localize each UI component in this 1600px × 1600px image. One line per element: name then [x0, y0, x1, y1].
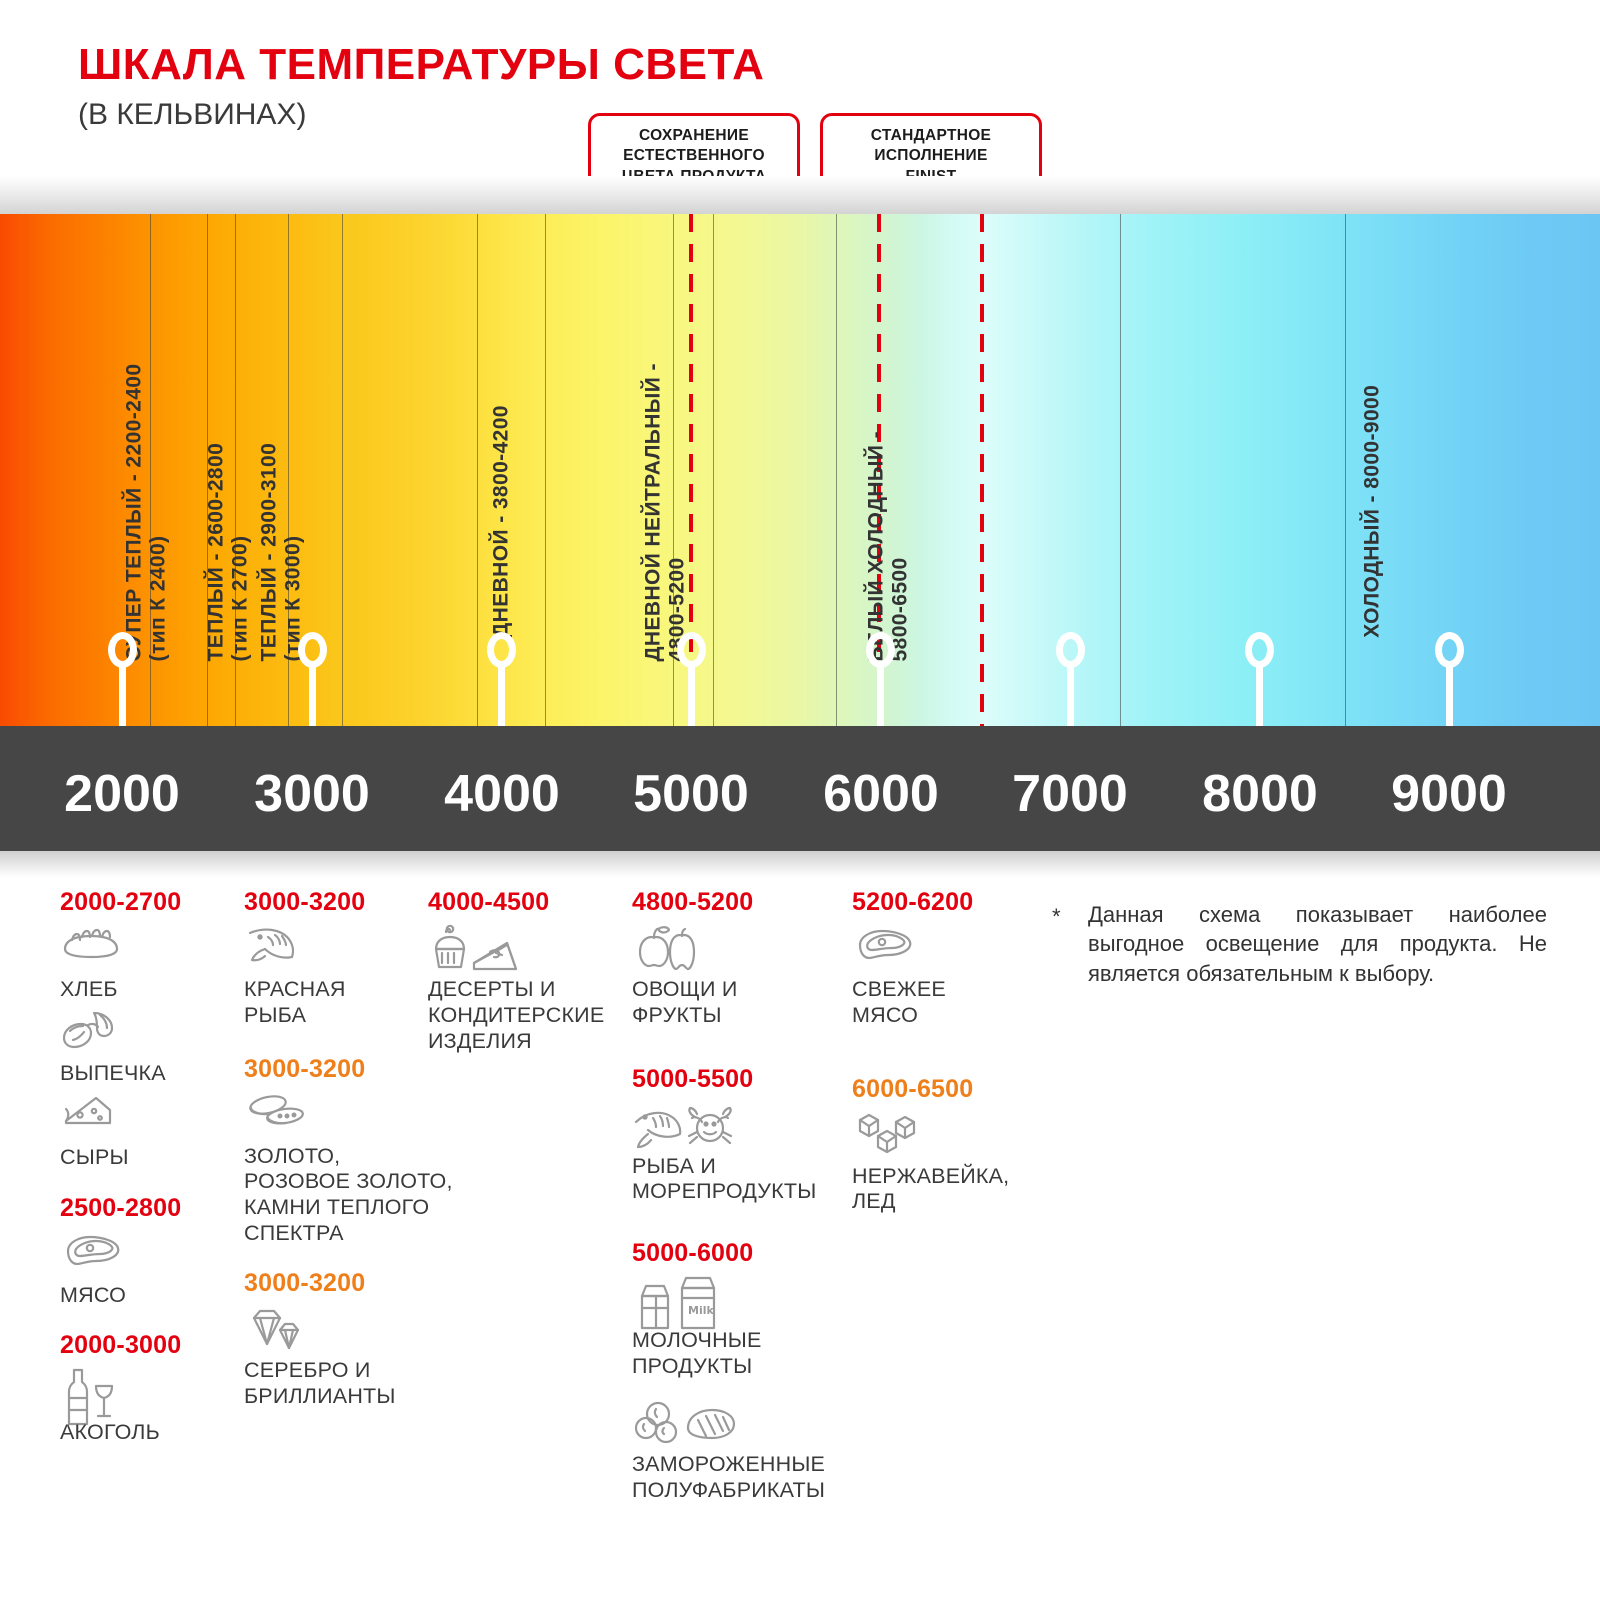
legend-item: НЕРЖАВЕЙКА,ЛЕД [852, 1110, 1042, 1216]
bread-icon [60, 923, 230, 975]
scale-tick-8000: 8000 [1170, 764, 1350, 824]
band-label-line2: 5800-6500 [888, 431, 912, 661]
legend-item-caption: ЗАМОРОЖЕННЫЕПОЛУФАБРИКАТЫ [632, 1452, 862, 1504]
band-divider [477, 214, 478, 726]
callout-line-1: СОХРАНЕНИЕ [639, 127, 749, 144]
scale-tick-3000: 3000 [222, 764, 402, 824]
legend-item-caption: ОВОЩИ ИФРУКТЫ [632, 977, 862, 1029]
callout-line-2: ЕСТЕСТВЕННОГО [623, 147, 765, 164]
legend-group: 6000-6500НЕРЖАВЕЙКА,ЛЕД [852, 1075, 1042, 1216]
legend-item: СВЕЖЕЕМЯСО [852, 923, 1042, 1029]
scale-tick-7000: 7000 [980, 764, 1160, 824]
scale-tick-9000: 9000 [1359, 764, 1539, 824]
band-label-white-cold: БЕЛЫЙ ХОЛОДНЫЙ - 5800-6500 [865, 431, 912, 661]
band-label-daylight-neutral: ДНЕВНОЙ НЕЙТРАЛЬНЫЙ - 4800-5200 [642, 363, 689, 661]
legend-group: 4000-4500ДЕСЕРТЫ ИКОНДИТЕРСКИЕИЗДЕЛИЯ [428, 888, 618, 1054]
legend-item-caption: ДЕСЕРТЫ ИКОНДИТЕРСКИЕИЗДЕЛИЯ [428, 977, 618, 1054]
diamond-icon [244, 1304, 494, 1356]
band-label-line2: (тип К 2700) [228, 443, 252, 662]
band-label-line1: ТЕПЛЫЙ - 2900-3100 [258, 443, 281, 662]
band-divider [1345, 214, 1346, 726]
legend-range-label: 5000-5500 [632, 1065, 862, 1094]
legend-item: ХЛЕБ [60, 923, 230, 1003]
legend-range-label: 4800-5200 [632, 888, 862, 917]
footnote: * Данная схема показывает наиболее выгод… [1052, 900, 1547, 988]
milk-carton-icon: Milk [632, 1274, 862, 1326]
band-label-warm-2700: ТЕПЛЫЙ - 2600-2800 (тип К 2700) [205, 443, 252, 662]
legend-item-caption: ЗОЛОТО,РОЗОВОЕ ЗОЛОТО,КАМНИ ТЕПЛОГОСПЕКТ… [244, 1144, 494, 1247]
rings-icon [244, 1090, 494, 1142]
legend-group: 2500-2800МЯСО [60, 1194, 230, 1309]
frozen-food-icon [632, 1398, 862, 1450]
footnote-star: * [1052, 902, 1061, 931]
callout-line-2: ИСПОЛНЕНИЕ [874, 147, 987, 164]
legend-group: 2000-3000АКОГОЛЬ [60, 1331, 230, 1446]
legend-range-label: 4000-4500 [428, 888, 618, 917]
legend-group: 4800-5200ОВОЩИ ИФРУКТЫ [632, 888, 862, 1029]
legend-item-caption: АКОГОЛЬ [60, 1420, 230, 1446]
footnote-text: Данная схема показывает наиболее выгодно… [1088, 900, 1547, 988]
band-label-line2: 4800-5200 [665, 363, 689, 661]
fresh-meat-icon [852, 923, 1042, 975]
svg-text:Milk: Milk [688, 1304, 714, 1317]
band-label-daylight: ДНЕВНОЙ - 3800-4200 [489, 405, 513, 638]
legend-range-label: 5000-6000 [632, 1239, 862, 1268]
top-fade-strip [0, 176, 1600, 214]
band-label-line1: ДНЕВНОЙ - 3800-4200 [489, 405, 512, 638]
legend-item: ОВОЩИ ИФРУКТЫ [632, 923, 862, 1029]
legend-range-label: 2500-2800 [60, 1194, 230, 1223]
band-label-line1: СУПЕР ТЕПЛЫЙ - 2200-2400 [123, 364, 146, 662]
legend-item: MilkМОЛОЧНЫЕ ПРОДУКТЫ [632, 1274, 862, 1380]
legend-item-caption: СЫРЫ [60, 1145, 230, 1171]
legend-item-caption: РЫБА ИМОРЕПРОДУКТЫ [632, 1154, 862, 1206]
legend-item-caption: МЯСО [60, 1283, 230, 1309]
ice-cubes-icon [852, 1110, 1042, 1162]
legend-item-caption: СВЕЖЕЕМЯСО [852, 977, 1042, 1029]
legend-item-caption: МОЛОЧНЫЕ ПРОДУКТЫ [632, 1328, 862, 1380]
scale-tick-5000: 5000 [601, 764, 781, 824]
band-label-line1: ТЕПЛЫЙ - 2600-2800 [205, 443, 228, 662]
cake-icon [428, 923, 618, 975]
croissant-icon [60, 1007, 230, 1059]
fish-crab-icon [632, 1100, 862, 1152]
legend-range-label: 2000-2700 [60, 888, 230, 917]
legend-group: 3000-3200ЗОЛОТО,РОЗОВОЕ ЗОЛОТО,КАМНИ ТЕП… [244, 1055, 494, 1247]
legend-column-3: 4000-4500ДЕСЕРТЫ ИКОНДИТЕРСКИЕИЗДЕЛИЯ [428, 888, 618, 1060]
page-subtitle: (В КЕЛЬВИНАХ) [78, 98, 306, 132]
bottle-glass-icon [60, 1366, 230, 1418]
legend-group: 2000-2700ХЛЕБВЫПЕЧКАСЫРЫ [60, 888, 230, 1170]
legend-item: СЕРЕБРО ИБРИЛЛИАНТЫ [244, 1304, 494, 1410]
legend-column-5: 5200-6200СВЕЖЕЕМЯСО6000-6500НЕРЖАВЕЙКА,Л… [852, 888, 1042, 1221]
legend-range-label: 2000-3000 [60, 1331, 230, 1360]
band-divider [836, 214, 837, 726]
legend-range-label: 3000-3200 [244, 1269, 494, 1298]
band-divider [713, 214, 714, 726]
legend-group: 5000-6000MilkМОЛОЧНЫЕ ПРОДУКТЫЗАМОРОЖЕНН… [632, 1239, 862, 1503]
callout-line-1: СТАНДАРТНОЕ [871, 127, 991, 144]
legend-range-label: 6000-6500 [852, 1075, 1042, 1104]
band-label-cold: ХОЛОДНЫЙ - 8000-9000 [1360, 385, 1384, 638]
dark-bar-shadow [0, 851, 1600, 877]
scale-tick-6000: 6000 [791, 764, 971, 824]
legend-item-caption: ВЫПЕЧКА [60, 1061, 230, 1087]
legend-item-caption: ХЛЕБ [60, 977, 230, 1003]
legend-item: ЗОЛОТО,РОЗОВОЕ ЗОЛОТО,КАМНИ ТЕПЛОГОСПЕКТ… [244, 1090, 494, 1247]
legend-item-caption: СЕРЕБРО ИБРИЛЛИАНТЫ [244, 1358, 494, 1410]
page-title: ШКАЛА ТЕМПЕРАТУРЫ СВЕТА [78, 40, 764, 90]
legend-column-1: 2000-2700ХЛЕБВЫПЕЧКАСЫРЫ2500-2800МЯСО200… [60, 888, 230, 1452]
legend-item: РЫБА ИМОРЕПРОДУКТЫ [632, 1100, 862, 1206]
fruit-vegetable-icon [632, 923, 862, 975]
band-divider [342, 214, 343, 726]
legend-item: МЯСО [60, 1229, 230, 1309]
legend-group: 5000-5500РЫБА ИМОРЕПРОДУКТЫ [632, 1065, 862, 1206]
steak-icon [60, 1229, 230, 1281]
legend-item: ДЕСЕРТЫ ИКОНДИТЕРСКИЕИЗДЕЛИЯ [428, 923, 618, 1054]
legend-column-4: 4800-5200ОВОЩИ ИФРУКТЫ5000-5500РЫБА ИМОР… [632, 888, 862, 1509]
band-label-line1: ХОЛОДНЫЙ - 8000-9000 [1360, 385, 1383, 638]
legend-range-label: 5200-6200 [852, 888, 1042, 917]
red-dashed-marker-standard-end [980, 214, 984, 726]
legend-group: 3000-3200СЕРЕБРО ИБРИЛЛИАНТЫ [244, 1269, 494, 1410]
band-label-line1: ДНЕВНОЙ НЕЙТРАЛЬНЫЙ - [642, 363, 665, 661]
legend-item: ЗАМОРОЖЕННЫЕПОЛУФАБРИКАТЫ [632, 1398, 862, 1504]
band-label-line2: (тип К 3000) [281, 443, 305, 662]
band-label-line2: (тип К 2400) [146, 364, 170, 662]
legend-item: АКОГОЛЬ [60, 1366, 230, 1446]
legend-item: СЫРЫ [60, 1091, 230, 1171]
band-label-line1: БЕЛЫЙ ХОЛОДНЫЙ - [865, 431, 888, 661]
band-divider [545, 214, 546, 726]
cheese-icon [60, 1091, 230, 1143]
scale-tick-4000: 4000 [412, 764, 592, 824]
legend-item-caption: НЕРЖАВЕЙКА,ЛЕД [852, 1164, 1042, 1216]
legend-group: 5200-6200СВЕЖЕЕМЯСО [852, 888, 1042, 1029]
band-label-warm-3000: ТЕПЛЫЙ - 2900-3100 (тип К 3000) [258, 443, 305, 662]
band-divider [1120, 214, 1121, 726]
band-label-super-warm: СУПЕР ТЕПЛЫЙ - 2200-2400 (тип К 2400) [123, 364, 170, 662]
scale-tick-2000: 2000 [32, 764, 212, 824]
color-temperature-band: СУПЕР ТЕПЛЫЙ - 2200-2400 (тип К 2400) ТЕ… [0, 214, 1600, 726]
legend-item: ВЫПЕЧКА [60, 1007, 230, 1087]
